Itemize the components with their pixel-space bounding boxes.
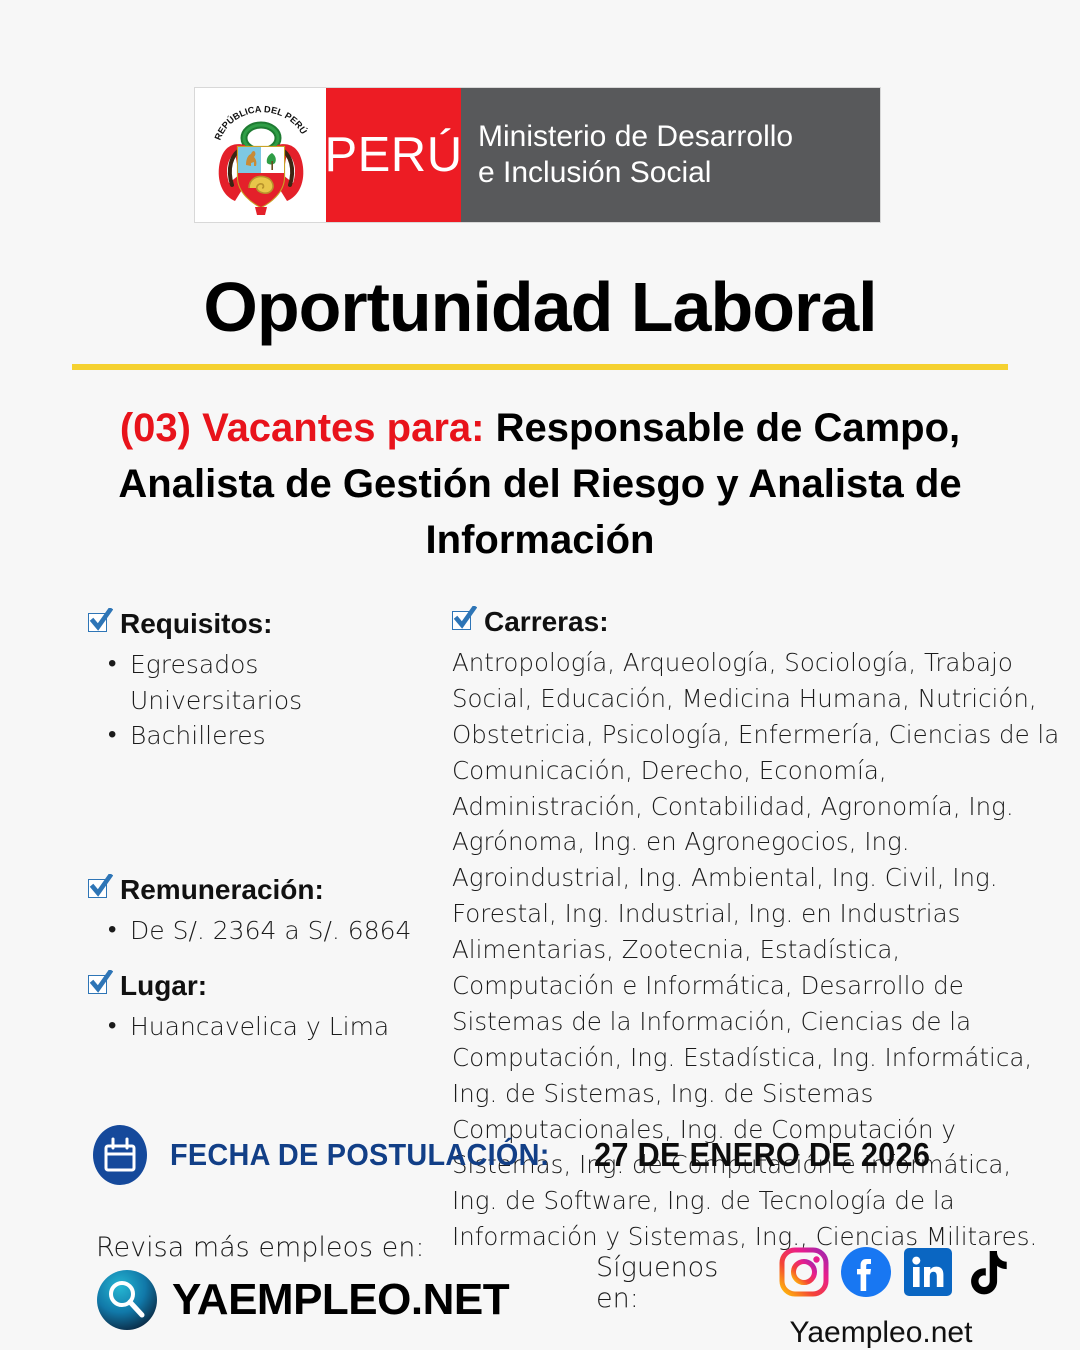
title-divider: [72, 364, 1008, 370]
peru-coat-of-arms: REPÚBLICA DEL PERÚ: [195, 88, 326, 222]
search-icon: [96, 1269, 158, 1331]
section-remuneracion-title: Remuneración:: [120, 872, 324, 907]
column-spacer-small: [88, 948, 428, 968]
ministry-line-1: Ministerio de Desarrollo: [478, 119, 880, 155]
checkmark-icon: [88, 877, 110, 899]
section-requisitos-title: Requisitos:: [120, 606, 272, 641]
section-lugar-header: Lugar:: [88, 968, 428, 1003]
ministry-line-2: e Inclusión Social: [478, 155, 880, 191]
vacancy-count-label: (03) Vacantes para:: [120, 406, 485, 450]
application-date-row: FECHA DE POSTULACIÓN: 27 DE ENERO DE 202…: [92, 1124, 956, 1186]
peru-word: PERÚ: [324, 131, 462, 180]
vacancy-subtitle: (03) Vacantes para: Responsable de Campo…: [70, 400, 1010, 568]
follow-label: Síguenos en:: [596, 1230, 766, 1314]
lugar-list: Huancavelica y Lima: [108, 1009, 428, 1045]
footer-social-block: Síguenos en:: [596, 1230, 1016, 1350]
list-item: Bachilleres: [130, 718, 428, 754]
section-lugar-title: Lugar:: [120, 968, 207, 1003]
linkedin-icon[interactable]: [902, 1246, 954, 1298]
section-carreras-title: Carreras:: [484, 604, 609, 639]
checkmark-icon: [88, 973, 110, 995]
list-item: Egresados Universitarios: [130, 647, 428, 718]
coat-of-arms-svg: REPÚBLICA DEL PERÚ: [205, 93, 317, 217]
section-remuneracion-header: Remuneración:: [88, 872, 428, 907]
social-icon-group: [778, 1246, 1016, 1298]
left-column: Requisitos: Egresados Universitarios Bac…: [88, 606, 428, 1045]
section-carreras-header: Carreras:: [452, 604, 1060, 639]
ministry-logo-bar: REPÚBLICA DEL PERÚ: [195, 88, 880, 222]
checkmark-icon: [88, 611, 110, 633]
ministry-name: Ministerio de Desarrollo e Inclusión Soc…: [461, 88, 880, 222]
remuneracion-list: De S/. 2364 a S/. 6864: [108, 913, 428, 949]
page-title: Oportunidad Laboral: [0, 272, 1080, 342]
peru-wordmark: PERÚ: [326, 88, 461, 222]
facebook-icon[interactable]: [840, 1246, 892, 1298]
application-date-label: FECHA DE POSTULACIÓN:: [170, 1137, 550, 1173]
instagram-icon[interactable]: [778, 1246, 830, 1298]
section-requisitos-header: Requisitos:: [88, 606, 428, 641]
checkmark-icon: [452, 609, 474, 631]
requisitos-list: Egresados Universitarios Bachilleres: [108, 647, 428, 754]
social-row: Síguenos en:: [596, 1230, 1016, 1314]
list-item: De S/. 2364 a S/. 6864: [130, 913, 428, 949]
list-item: Huancavelica y Lima: [130, 1009, 428, 1045]
social-handle: Yaempleo.net: [746, 1316, 1016, 1350]
column-spacer: [88, 754, 428, 872]
calendar-icon: [92, 1124, 148, 1186]
application-date-value: 27 DE ENERO DE 2026: [594, 1136, 930, 1174]
brand-row[interactable]: YAEMPLEO.NET: [96, 1269, 509, 1331]
more-jobs-label: Revisa más empleos en:: [96, 1232, 509, 1263]
footer-brand-block: Revisa más empleos en: YAEMPLEO.NET: [96, 1232, 509, 1331]
brand-name: YAEMPLEO.NET: [172, 1275, 509, 1325]
tiktok-icon[interactable]: [964, 1246, 1016, 1298]
